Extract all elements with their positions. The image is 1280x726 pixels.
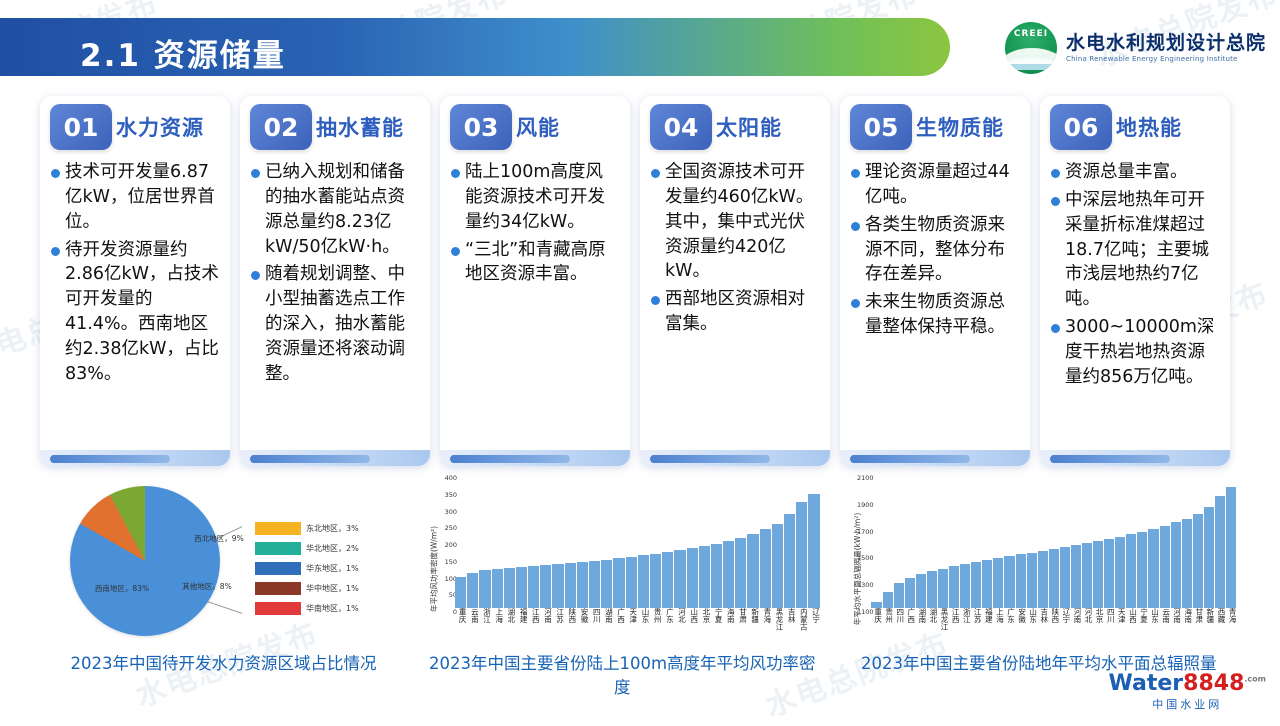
bullet-dot-icon <box>451 247 460 256</box>
bar <box>638 555 649 608</box>
bar <box>711 544 722 608</box>
bar <box>1027 553 1037 608</box>
bar <box>589 561 600 608</box>
bullet-dot-icon <box>451 169 460 178</box>
bullet-text: 技术可开发量6.87亿kW，位居世界首位。 <box>65 160 220 235</box>
bar <box>760 529 771 608</box>
bar <box>1004 556 1014 608</box>
legend-label: 华南地区，1% <box>306 603 359 614</box>
bullet-dot-icon <box>1051 324 1060 333</box>
bullet-dot-icon <box>851 299 860 308</box>
card-footer <box>1040 450 1230 466</box>
bar <box>1126 534 1136 608</box>
bar <box>1215 496 1225 608</box>
bar <box>687 548 698 608</box>
bullet-text: 各类生物质资源来源不同，整体分布存在差异。 <box>865 213 1020 288</box>
card-title: 抽水蓄能 <box>316 112 404 142</box>
bar <box>552 564 563 608</box>
card-title: 水力资源 <box>116 112 204 142</box>
bar <box>883 592 893 608</box>
legend-item: 华北地区，2% <box>255 540 405 557</box>
card-title: 风能 <box>516 112 560 142</box>
legend-item: 华中地区，1% <box>255 580 405 597</box>
bar <box>1104 539 1114 608</box>
card-body: 理论资源量超过44亿吨。 各类生物质资源来源不同，整体分布存在差异。 未来生物质… <box>840 158 1030 340</box>
legend-label: 华北地区，2% <box>306 543 359 554</box>
card-number-badge: 01 <box>50 104 112 150</box>
chart-bar-wind-power-density: 年平均风功率密度(W/m²) 050100150200250300350400 … <box>421 474 824 664</box>
creei-logo-icon: CREEI <box>1005 22 1057 74</box>
card-body: 已纳入规划和储备的抽水蓄能站点资源总量约8.23亿kW/50亿kW·h。 随着规… <box>240 158 430 387</box>
legend-item: 东北地区，3% <box>255 520 405 537</box>
pie-slice-label-northwest: 西北地区，9% <box>192 534 246 543</box>
bar <box>905 578 915 608</box>
logo-name-cn: 水电水利规划设计总院 <box>1066 33 1266 55</box>
logo-mark-text: CREEI <box>1005 29 1057 39</box>
bar <box>735 538 746 608</box>
bar <box>662 552 673 608</box>
chart-bar-solar-irradiation: 年平均水平面总辐照量(kW·h/m²) 11001300150017001900… <box>837 474 1240 664</box>
bar <box>1171 522 1181 608</box>
card-header: 01 水力资源 <box>40 96 230 158</box>
bullet-dot-icon <box>851 222 860 231</box>
page-title: 2.1 资源储量 <box>80 30 286 75</box>
card-biomass[interactable]: 05 生物质能 理论资源量超过44亿吨。 各类生物质资源来源不同，整体分布存在差… <box>840 96 1030 466</box>
card-header: 06 地热能 <box>1040 96 1230 158</box>
bullet-item: 资源总量丰富。 <box>1048 160 1220 185</box>
bar <box>601 560 612 609</box>
bullet-item: 技术可开发量6.87亿kW，位居世界首位。 <box>48 160 220 235</box>
bullet-text: 随着规划调整、中小型抽蓄选点工作的深入，抽水蓄能资源量还将滚动调整。 <box>265 262 420 386</box>
caption-pie: 2023年中国待开发水力资源区域占比情况 <box>40 650 407 676</box>
bar <box>674 550 685 608</box>
bar <box>808 494 819 608</box>
bar <box>467 573 478 608</box>
y-axis-ticks: 110013001500170019002100 <box>851 478 873 612</box>
card-header: 02 抽水蓄能 <box>240 96 430 158</box>
bar <box>971 562 981 608</box>
bullet-item: 全国资源技术可开发量约460亿kW。其中，集中式光伏资源量约420亿kW。 <box>648 160 820 284</box>
y-axis-ticks: 050100150200250300350400 <box>435 478 457 612</box>
bullet-dot-icon <box>651 169 660 178</box>
bar <box>1148 529 1158 608</box>
resource-cards: 01 水力资源 技术可开发量6.87亿kW，位居世界首位。 待开发资源量约2.8… <box>40 96 1240 466</box>
legend-label: 华中地区，1% <box>306 583 359 594</box>
legend-item: 华东地区，1% <box>255 560 405 577</box>
chart-pie-hydro-region: 西南地区，83% 西北地区，9% 其他地区，8% 东北地区，3% 华北地区，2%… <box>40 474 407 664</box>
card-title: 生物质能 <box>916 112 1004 142</box>
footer-brand-number: 8848 <box>1183 671 1244 696</box>
bar <box>894 583 904 608</box>
legend-label: 东北地区，3% <box>306 523 359 534</box>
bar <box>1060 547 1070 608</box>
brand-logo: CREEI 水电水利规划设计总院 China Renewable Energy … <box>1005 22 1266 74</box>
card-hydropower[interactable]: 01 水力资源 技术可开发量6.87亿kW，位居世界首位。 待开发资源量约2.8… <box>40 96 230 466</box>
card-footer <box>440 450 630 466</box>
bullet-item: “三北”和青藏高原地区资源丰富。 <box>448 238 620 288</box>
bar <box>528 566 539 608</box>
bullet-text: 陆上100m高度风能资源技术可开发量约34亿kW。 <box>465 160 620 235</box>
bullet-item: 3000~10000m深度干热岩地热资源量约856万亿吨。 <box>1048 315 1220 390</box>
bar <box>479 570 490 608</box>
bullet-item: 理论资源量超过44亿吨。 <box>848 160 1020 210</box>
bar <box>565 563 576 608</box>
card-footer <box>240 450 430 466</box>
bullet-item: 陆上100m高度风能资源技术可开发量约34亿kW。 <box>448 160 620 235</box>
bar <box>796 502 807 608</box>
card-title: 地热能 <box>1116 112 1182 142</box>
bullet-text: “三北”和青藏高原地区资源丰富。 <box>465 238 620 288</box>
bullet-dot-icon <box>651 296 660 305</box>
card-header: 04 太阳能 <box>640 96 830 158</box>
bar <box>982 560 992 608</box>
y-tick-label: 400 <box>445 474 457 482</box>
bar <box>1160 526 1170 608</box>
bar <box>1049 549 1059 608</box>
card-number-badge: 03 <box>450 104 512 150</box>
legend-item: 华南地区，1% <box>255 600 405 617</box>
bullet-item: 已纳入规划和储备的抽水蓄能站点资源总量约8.23亿kW/50亿kW·h。 <box>248 160 420 259</box>
bullet-dot-icon <box>1051 169 1060 178</box>
bullet-item: 中深层地热年可开采量折标准煤超过18.7亿吨；主要城市浅层地热约7亿吨。 <box>1048 188 1220 312</box>
legend-swatch <box>255 562 301 575</box>
bullet-item: 待开发资源量约2.86亿kW，占技术可开发量的41.4%。西南地区约2.38亿k… <box>48 238 220 387</box>
legend-label: 华东地区，1% <box>306 563 359 574</box>
bar <box>492 569 503 608</box>
bar <box>938 569 948 608</box>
bullet-item: 随着规划调整、中小型抽蓄选点工作的深入，抽水蓄能资源量还将滚动调整。 <box>248 262 420 386</box>
card-solar[interactable]: 04 太阳能 全国资源技术可开发量约460亿kW。其中，集中式光伏资源量约420… <box>640 96 830 466</box>
bullet-text: 中深层地热年可开采量折标准煤超过18.7亿吨；主要城市浅层地热约7亿吨。 <box>1065 188 1220 312</box>
y-tick-label: 2100 <box>857 474 874 482</box>
bar <box>723 541 734 608</box>
bar <box>1071 545 1081 608</box>
card-wind[interactable]: 03 风能 陆上100m高度风能资源技术可开发量约34亿kW。 “三北”和青藏高… <box>440 96 630 466</box>
bullet-dot-icon <box>51 247 60 256</box>
bar <box>504 568 515 608</box>
bullet-text: 未来生物质资源总量整体保持平稳。 <box>865 290 1020 340</box>
legend-swatch <box>255 582 301 595</box>
bar <box>455 577 466 609</box>
bar <box>699 546 710 608</box>
footer-brand-cn: 中国水业网 <box>1109 696 1266 712</box>
bar <box>626 557 637 608</box>
bar <box>516 567 527 608</box>
pie-slice-label-southwest: 西南地区，83% <box>92 584 152 593</box>
logo-name-en: China Renewable Energy Engineering Insti… <box>1066 55 1266 63</box>
bar <box>1016 554 1026 608</box>
bullet-text: 西部地区资源相对富集。 <box>665 287 820 337</box>
card-title: 太阳能 <box>716 112 782 142</box>
bullet-item: 未来生物质资源总量整体保持平稳。 <box>848 290 1020 340</box>
bullet-dot-icon <box>251 271 260 280</box>
card-header: 05 生物质能 <box>840 96 1030 158</box>
pie-legend: 东北地区，3% 华北地区，2% 华东地区，1% 华中地区，1% 华南地区，1% <box>255 520 405 620</box>
card-body: 陆上100m高度风能资源技术可开发量约34亿kW。 “三北”和青藏高原地区资源丰… <box>440 158 630 287</box>
bar-series <box>455 482 820 608</box>
bar <box>540 565 551 608</box>
bar <box>927 571 937 608</box>
card-footer <box>40 450 230 466</box>
bar <box>1204 507 1214 608</box>
bar <box>1082 543 1092 608</box>
footer-brand-com: .com <box>1244 675 1266 684</box>
card-geothermal[interactable]: 06 地热能 资源总量丰富。 中深层地热年可开采量折标准煤超过18.7亿吨；主要… <box>1040 96 1230 466</box>
bullet-text: 资源总量丰富。 <box>1065 160 1188 185</box>
bar <box>949 566 959 608</box>
bullet-dot-icon <box>251 169 260 178</box>
card-body: 资源总量丰富。 中深层地热年可开采量折标准煤超过18.7亿吨；主要城市浅层地热约… <box>1040 158 1230 390</box>
legend-swatch <box>255 522 301 535</box>
bullet-dot-icon <box>51 169 60 178</box>
bullet-dot-icon <box>851 169 860 178</box>
bar <box>784 514 795 609</box>
card-number-badge: 04 <box>650 104 712 150</box>
bar <box>1137 532 1147 608</box>
legend-swatch <box>255 602 301 615</box>
card-header: 03 风能 <box>440 96 630 158</box>
footer-brand: Water8848.com <box>1109 671 1266 696</box>
bar <box>613 558 624 608</box>
chart-captions: 2023年中国待开发水力资源区域占比情况 2023年中国主要省份陆上100m高度… <box>40 650 1240 676</box>
bullet-text: 全国资源技术可开发量约460亿kW。其中，集中式光伏资源量约420亿kW。 <box>665 160 820 284</box>
bullet-text: 理论资源量超过44亿吨。 <box>865 160 1020 210</box>
bullet-text: 3000~10000m深度干热岩地热资源量约856万亿吨。 <box>1065 315 1220 390</box>
card-body: 全国资源技术可开发量约460亿kW。其中，集中式光伏资源量约420亿kW。 西部… <box>640 158 830 337</box>
bar-series <box>871 482 1236 608</box>
caption-wind: 2023年中国主要省份陆上100m高度年平均风功率密度 <box>421 650 824 676</box>
footer-brand-text: Water <box>1109 671 1184 696</box>
card-body: 技术可开发量6.87亿kW，位居世界首位。 待开发资源量约2.86亿kW，占技术… <box>40 158 230 387</box>
bullet-item: 各类生物质资源来源不同，整体分布存在差异。 <box>848 213 1020 288</box>
bar <box>1193 514 1203 608</box>
card-pumped-storage[interactable]: 02 抽水蓄能 已纳入规划和储备的抽水蓄能站点资源总量约8.23亿kW/50亿k… <box>240 96 430 466</box>
bullet-text: 已纳入规划和储备的抽水蓄能站点资源总量约8.23亿kW/50亿kW·h。 <box>265 160 420 259</box>
bar <box>747 534 758 608</box>
charts-row: 西南地区，83% 西北地区，9% 其他地区，8% 东北地区，3% 华北地区，2%… <box>40 474 1240 664</box>
bar <box>993 558 1003 608</box>
bar <box>960 564 970 608</box>
bar <box>772 524 783 608</box>
bar <box>577 562 588 608</box>
bar <box>1182 519 1192 608</box>
card-number-badge: 06 <box>1050 104 1112 150</box>
bar <box>1115 537 1125 608</box>
bar <box>1226 487 1236 608</box>
bullet-dot-icon <box>1051 197 1060 206</box>
bar <box>650 554 661 608</box>
legend-swatch <box>255 542 301 555</box>
bar <box>1093 541 1103 608</box>
card-number-badge: 05 <box>850 104 912 150</box>
card-number-badge: 02 <box>250 104 312 150</box>
footer-logo: Water8848.com 中国水业网 <box>1109 671 1266 712</box>
pie-slice-label-other: 其他地区，8% <box>180 582 234 591</box>
bar <box>1038 551 1048 608</box>
card-footer <box>640 450 830 466</box>
bullet-item: 西部地区资源相对富集。 <box>648 287 820 337</box>
bullet-text: 待开发资源量约2.86亿kW，占技术可开发量的41.4%。西南地区约2.38亿k… <box>65 238 220 387</box>
bar <box>916 574 926 608</box>
card-footer <box>840 450 1030 466</box>
pie-graphic <box>70 486 220 636</box>
